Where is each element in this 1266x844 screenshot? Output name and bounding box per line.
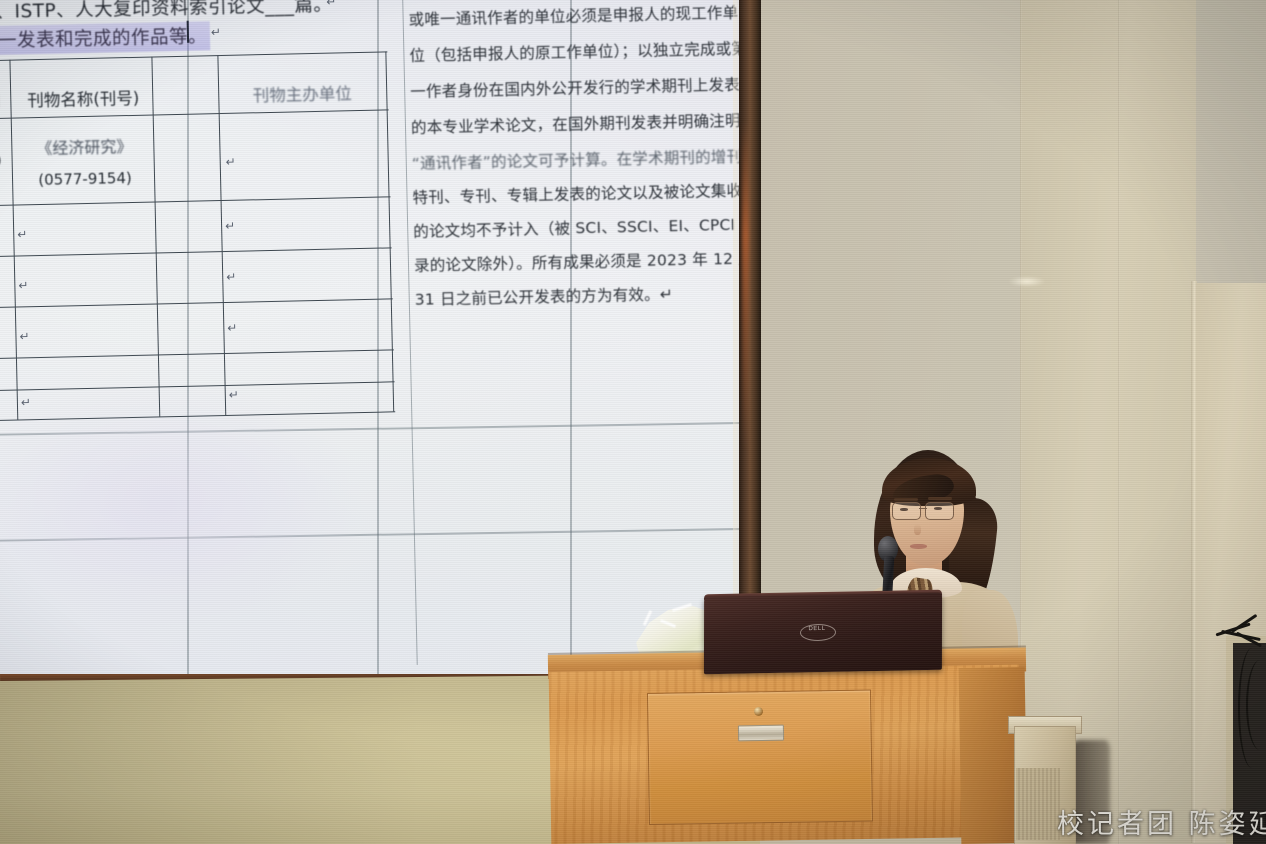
table-header-cell: 刊物主办单位 [220,79,384,107]
doc-line-highlighted: 成第一发表和完成的作品等。 [0,21,210,56]
pilcrow-icon: ↵ [17,227,27,241]
document-table: 表年月 刊物名称(刊号) 刊物主办单位 22. 10 《经济研究》 (0577-… [0,51,395,430]
pilcrow-icon: ↵ [19,329,29,343]
table-rule [385,51,394,411]
pilcrow-icon: ↵ [21,395,31,409]
drawer-lock-icon[interactable] [754,707,763,716]
lower-wall-shadow [0,668,420,844]
doc-paragraph-line: “通讯作者”的论文可予计算。在学术期刊的增刊、 [412,149,740,172]
document-left-page: 、EI、ISTP、人大复印资料索引论文___篇。 ↵ 成第一发表和完成的作品等。… [0,0,414,442]
pilcrow-icon: ↵ [227,321,237,335]
table-rule [151,57,160,417]
pilcrow-icon: ↵ [211,25,221,39]
doc-paragraph-line: 的本专业学术论文，在国外期刊发表并明确注明为 [411,113,740,136]
doc-paragraph-line: 一作者身份在国内外公开发行的学术期刊上发表 [410,78,740,101]
photo-credit-watermark: 校记者团 陈姿延 [1057,802,1266,841]
drawer-handle[interactable] [738,725,784,742]
table-cell: 22. 10 [0,152,14,172]
pilcrow-icon: ↵ [18,278,28,292]
pilcrow-icon: ↵ [326,0,336,9]
mouth [910,544,927,549]
glasses-bridge [919,508,927,509]
nose [914,524,921,535]
cable-bundle [1215,620,1266,646]
document-right-page: 成果的有效性及要求：署名独立作者、第一作者 或唯一通讯作者的单位必须是申报人的现… [408,0,740,341]
table-cell: (0577-9154) [20,169,150,190]
doc-paragraph-line: 位（包括申报人的原工作单位）；以独立完成或第 [409,42,740,65]
doc-line-top: 、EI、ISTP、人大复印资料索引论文___篇。 [0,0,333,25]
doc-paragraph-line: 31 日之前已公开发表的方为有效。↵ [415,287,674,308]
projection-screen: 、EI、ISTP、人大复印资料索引论文___篇。 ↵ 成第一发表和完成的作品等。… [0,0,740,674]
pilcrow-icon: ↵ [225,219,235,233]
table-header-cell: 表年月 [0,88,13,114]
wood-trim-reflection [742,120,749,450]
table-rule [0,381,395,392]
eyebrow [928,497,952,500]
projected-document: 、EI、ISTP、人大复印资料索引论文___篇。 ↵ 成第一发表和完成的作品等。… [0,0,740,446]
pilcrow-icon: ↵ [229,388,239,402]
table-rule [0,247,392,258]
pilcrow-icon: ↵ [226,270,236,284]
doc-paragraph-line: 特刊、专刊、专辑上发表的论文以及被论文集收录 [412,183,740,206]
table-header-cell: 刊物名称(刊号) [18,85,148,112]
table-rule [0,109,389,120]
eyeglasses [892,502,962,519]
wall-scuff-mark [1008,276,1046,287]
table-rule [0,196,391,207]
pilcrow-icon: ↵ [226,155,236,169]
table-rule [0,349,394,360]
table-rule [0,298,393,309]
doc-paragraph-line: 或唯一通讯作者的单位必须是申报人的现工作单 [409,6,739,29]
wall-seam [1118,0,1120,844]
table-rule [0,411,395,422]
doc-paragraph-line: 录的论文除外）。所有成果必须是 2023 年 12 月 [414,251,740,274]
table-rule [217,55,226,415]
doc-paragraph-line: 的论文均不予计入（被 SCI、SSCI、EI、CPCI 收 [413,217,740,240]
lens-right [925,502,954,520]
lecture-hall-photo: 、EI、ISTP、人大复印资料索引论文___篇。 ↵ 成第一发表和完成的作品等。… [0,0,1266,844]
table-cell: 《经济研究》 [19,133,149,160]
dell-logo-text: DELL [803,626,831,633]
lens-left [892,502,921,520]
equipment-vent [1016,768,1060,840]
eyebrow [894,498,918,501]
